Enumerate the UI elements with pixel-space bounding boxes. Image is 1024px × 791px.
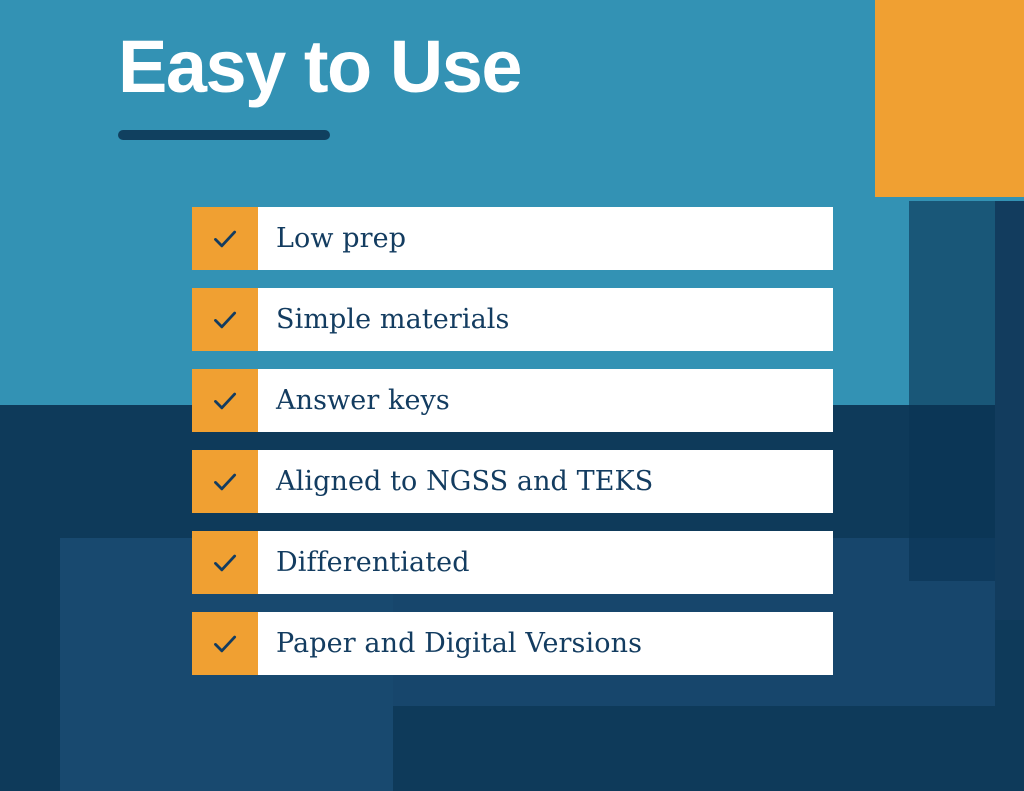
checklist-row[interactable]: Answer keys — [192, 369, 833, 432]
page-title: Easy to Use — [118, 30, 878, 104]
checklist-row[interactable]: Paper and Digital Versions — [192, 612, 833, 675]
title-underline-rule — [118, 130, 330, 140]
checkmark-icon — [212, 307, 238, 333]
checkmark-cell — [192, 207, 258, 270]
checklist-item-label: Simple materials — [258, 288, 833, 351]
background-overlay-column — [909, 201, 995, 581]
checklist-item-label: Paper and Digital Versions — [258, 612, 833, 675]
checkmark-icon — [212, 469, 238, 495]
checklist-item-label: Differentiated — [258, 531, 833, 594]
checkmark-icon — [212, 226, 238, 252]
checkmark-cell — [192, 288, 258, 351]
checkmark-cell — [192, 369, 258, 432]
checkmark-cell — [192, 450, 258, 513]
checklist-item-label: Answer keys — [258, 369, 833, 432]
background-right-strip-lower — [995, 620, 1024, 791]
checkmark-icon — [212, 550, 238, 576]
checkmark-cell — [192, 531, 258, 594]
checklist-item-label: Aligned to NGSS and TEKS — [258, 450, 833, 513]
header: Easy to Use — [118, 30, 878, 140]
checklist-row[interactable]: Simple materials — [192, 288, 833, 351]
checkmark-icon — [212, 388, 238, 414]
background-orange-block — [875, 0, 1024, 197]
slide-canvas: Easy to Use Low prepSimple materialsAnsw… — [0, 0, 1024, 791]
checklist-row[interactable]: Low prep — [192, 207, 833, 270]
checklist-item-label: Low prep — [258, 207, 833, 270]
checkmark-cell — [192, 612, 258, 675]
checklist-row[interactable]: Differentiated — [192, 531, 833, 594]
background-right-strip — [995, 201, 1024, 620]
checkmark-icon — [212, 631, 238, 657]
checklist-row[interactable]: Aligned to NGSS and TEKS — [192, 450, 833, 513]
checklist: Low prepSimple materialsAnswer keysAlign… — [192, 207, 833, 675]
